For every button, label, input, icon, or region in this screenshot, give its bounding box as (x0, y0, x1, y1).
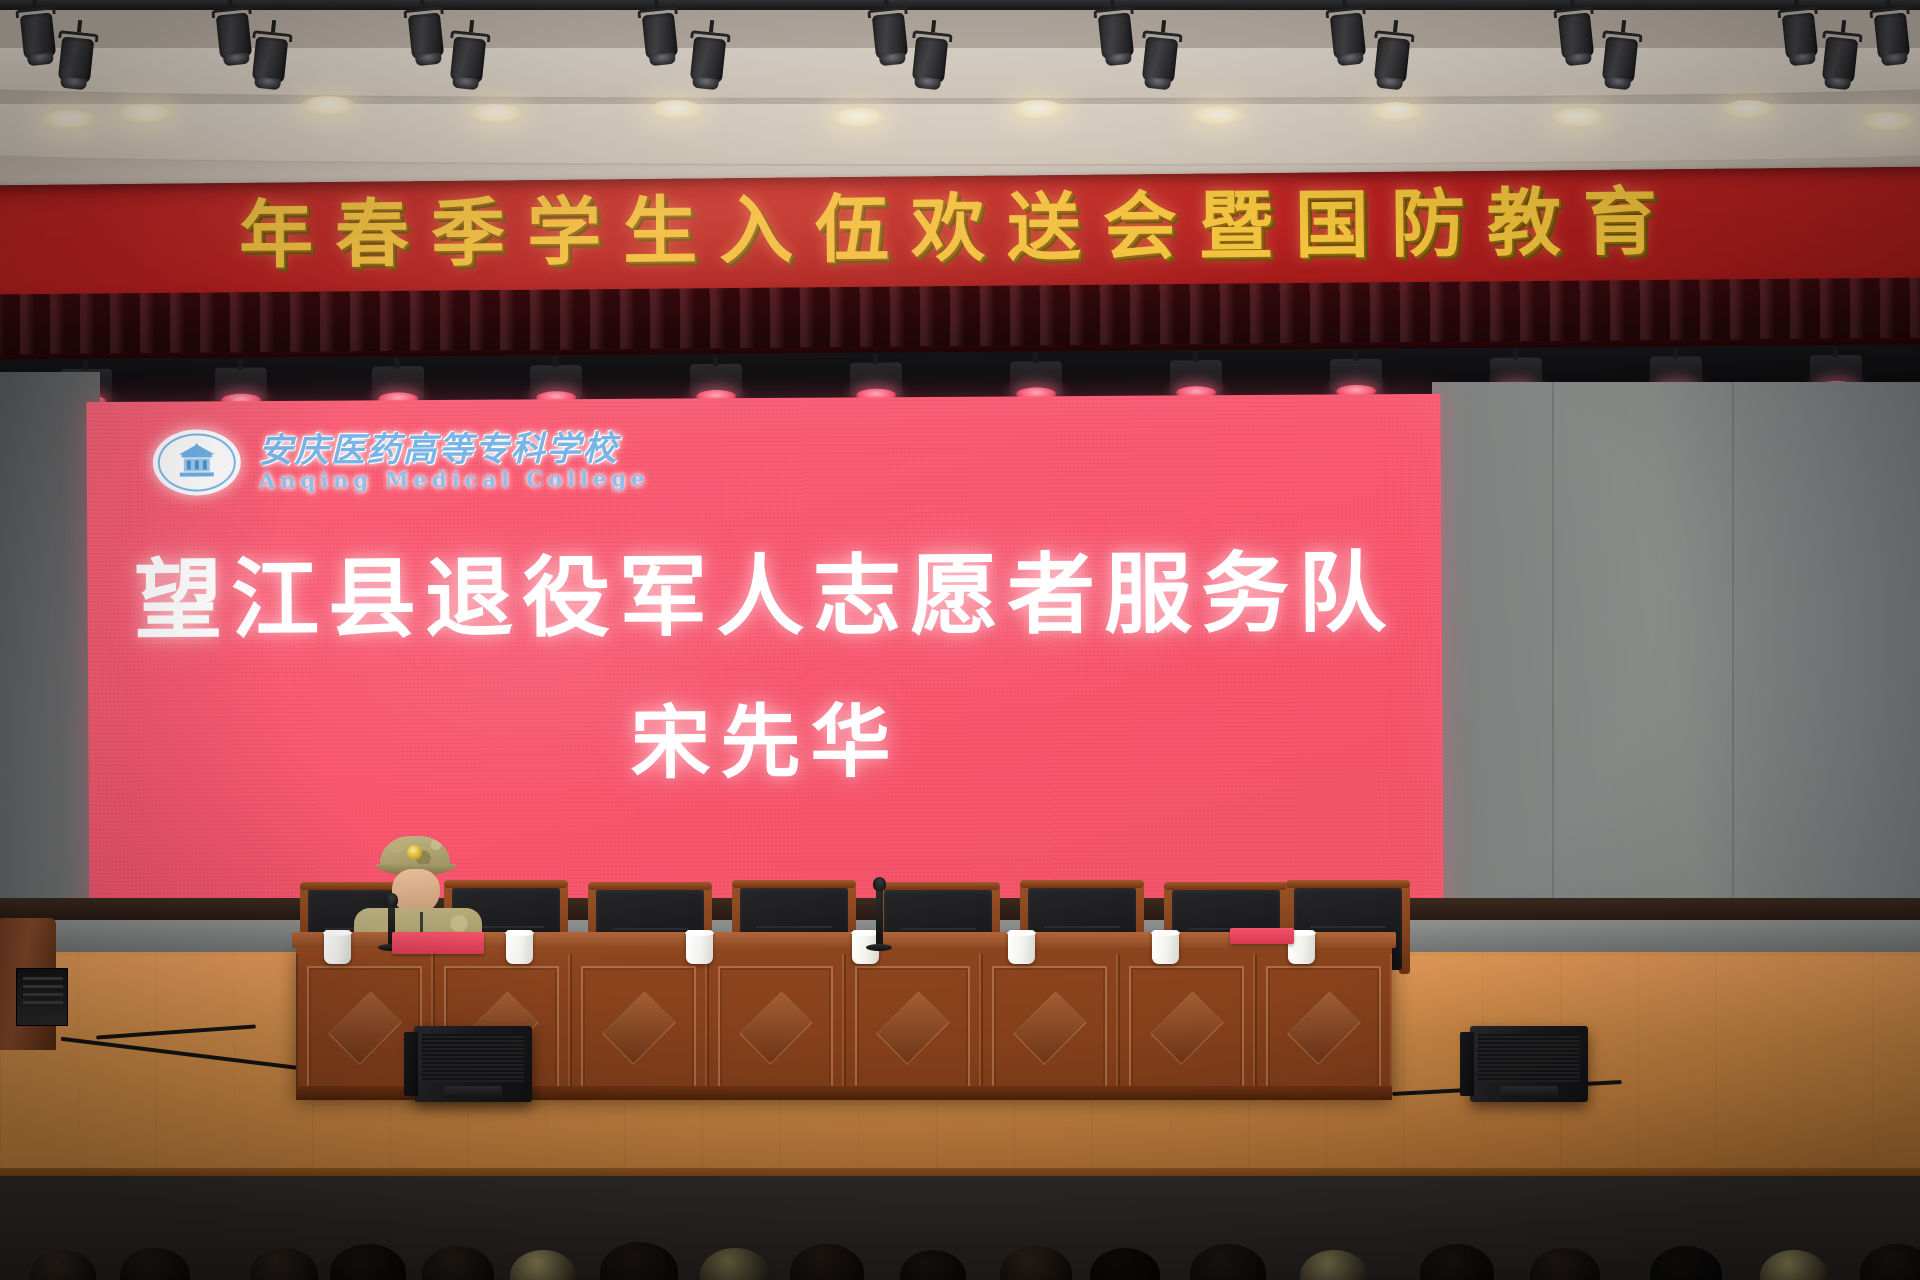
stage-spotlight (867, 2, 913, 70)
ceiling-downlight (1550, 108, 1606, 128)
spotlight-lens (1824, 77, 1851, 91)
floor-monitor-speaker (1470, 1026, 1588, 1102)
spotlight-lens (914, 77, 941, 91)
monitor-grille (1478, 1034, 1580, 1082)
chair-crease (1044, 926, 1120, 928)
audience-head (330, 1244, 406, 1280)
audience-head (1860, 1244, 1920, 1280)
spotlight-lens (27, 53, 54, 67)
table-front-panel (1118, 954, 1255, 1094)
spotlight-lens (223, 53, 250, 67)
ceiling-downlight (830, 108, 886, 128)
side-wall-right (1432, 382, 1920, 942)
audience-head (1190, 1244, 1266, 1280)
spotlight-lens (1105, 53, 1132, 67)
monitor-horn (444, 1086, 502, 1098)
stage-spotlight (1369, 26, 1415, 94)
water-cup (1152, 930, 1179, 964)
led-screen-wrapper: 安庆医药高等专科学校 Anqing Medical College 望江县退役军… (86, 394, 1443, 922)
par-can-light (215, 367, 267, 401)
stage-spotlight (685, 26, 731, 94)
par-can-stem (238, 359, 243, 370)
par-can-stem (1673, 347, 1678, 358)
av-equipment-box (16, 968, 68, 1026)
audience-head (1760, 1250, 1828, 1280)
stage-spotlight (1553, 2, 1599, 70)
spotlight-lens (649, 53, 676, 67)
microphone-base (866, 944, 892, 951)
spotlight-lens (1337, 53, 1364, 67)
panel-inner-frame (855, 966, 970, 1090)
spotlight-stem (271, 20, 276, 32)
audience-head (1300, 1250, 1368, 1280)
college-logo: 安庆医药高等专科学校 Anqing Medical College (153, 427, 650, 496)
spotlight-stem (77, 20, 82, 32)
banner-headline-text: 年春季学生入伍欢送会暨国防教育 (0, 176, 1920, 283)
college-logo-text: 安庆医药高等专科学校 Anqing Medical College (259, 431, 650, 490)
spotlight-stem (469, 20, 474, 32)
spotlight-lens (1789, 53, 1816, 67)
audience-head (422, 1246, 494, 1280)
par-can-light (1010, 361, 1062, 395)
spotlight-stem (709, 20, 714, 32)
spotlight-stem (931, 20, 936, 32)
spotlight-lens (452, 77, 479, 91)
spotlight-stem (1841, 20, 1846, 32)
table-front-panel (844, 954, 981, 1094)
par-can-stem (395, 357, 400, 368)
lighting-truss-rail (0, 0, 1920, 10)
audience-head (1420, 1244, 1494, 1280)
panel-inner-frame (1129, 966, 1244, 1090)
college-name-cn: 安庆医药高等专科学校 (259, 431, 650, 467)
audience-head (120, 1248, 190, 1280)
table-front-panel (1255, 954, 1392, 1094)
panel-diamond-motif (602, 991, 676, 1065)
audience-head (1000, 1246, 1072, 1280)
slide-title: 望江县退役军人志愿者服务队 (87, 522, 1442, 657)
audience-head (30, 1250, 96, 1280)
stage-spotlight (1137, 26, 1183, 94)
ceiling-band (0, 104, 1920, 166)
par-can-light (530, 365, 582, 399)
slide-speaker-name: 宋先华 (88, 674, 1443, 798)
panel-inner-frame (581, 966, 696, 1090)
chair-top-rail (732, 880, 856, 888)
ceiling-downlight (1368, 102, 1424, 122)
wall-seam (1552, 382, 1554, 942)
audience-head (1530, 1248, 1600, 1280)
red-name-card (392, 932, 484, 954)
chair-crease (1310, 926, 1386, 928)
spotlight-lens (879, 53, 906, 67)
ceiling-downlight (300, 96, 356, 116)
monitor-grille (422, 1034, 524, 1082)
ceiling-downlight (1190, 106, 1246, 126)
audience-foreground (0, 1176, 1920, 1280)
floor-monitor-speaker (414, 1026, 532, 1102)
par-can-stem (1513, 349, 1518, 360)
water-cup (1008, 930, 1035, 964)
stage-spotlight (403, 2, 449, 70)
stage-spotlight (637, 2, 683, 70)
panel-diamond-motif (328, 991, 402, 1065)
par-can-stem (873, 354, 878, 365)
college-seal (153, 429, 241, 496)
spotlight-lens (1565, 53, 1592, 67)
par-can-light (1170, 360, 1222, 394)
spotlight-lens (1604, 77, 1631, 91)
chair-top-rail (1286, 880, 1410, 888)
spotlight-lens (692, 77, 719, 91)
stage-spotlight (53, 26, 99, 94)
audience-head (1090, 1248, 1160, 1280)
spotlight-lens (415, 53, 442, 67)
ceiling-downlight (648, 100, 704, 120)
audience-head (250, 1248, 318, 1280)
par-can-stem (1353, 350, 1358, 361)
audience-head (900, 1250, 966, 1280)
par-can-stem (83, 360, 88, 371)
monitor-side-wedge (1460, 1032, 1474, 1096)
stage-spotlight (1325, 2, 1371, 70)
panel-diamond-motif (1287, 991, 1361, 1065)
led-screen: 安庆医药高等专科学校 Anqing Medical College 望江县退役军… (86, 394, 1443, 922)
stage-spotlight (907, 26, 953, 94)
par-can-light (850, 362, 902, 396)
spotlight-lens (1144, 77, 1171, 91)
ceiling-downlight (1860, 112, 1916, 132)
chair-top-rail (876, 882, 1000, 890)
chair-crease (900, 928, 976, 930)
panel-diamond-motif (1013, 991, 1087, 1065)
chair-crease (756, 926, 832, 928)
stage-spotlight (1093, 2, 1139, 70)
ceiling-downlight (468, 104, 524, 124)
table-front-panel (570, 954, 707, 1094)
stage-spotlight (1817, 26, 1863, 94)
table-front-panel (707, 954, 844, 1094)
chair-top-rail (1164, 882, 1288, 890)
panel-inner-frame (1266, 966, 1381, 1090)
panel-inner-frame (718, 966, 833, 1090)
par-can-light (1330, 359, 1382, 393)
stage-spotlight (1777, 2, 1823, 70)
vent-slot (23, 1001, 63, 1004)
spotlight-stem (1393, 20, 1398, 32)
stage-spotlight (445, 26, 491, 94)
par-can-stem (1193, 351, 1198, 362)
stage-spotlight (1597, 26, 1643, 94)
ceiling-downlight (1010, 100, 1066, 120)
par-can-light (372, 366, 424, 400)
spotlight-lens (1881, 53, 1908, 67)
ceiling-downlight (40, 110, 96, 130)
par-can-stem (1033, 352, 1038, 363)
par-can-stem (713, 355, 718, 366)
vent-slot (23, 985, 63, 988)
monitor-side-wedge (404, 1032, 418, 1096)
panel-diamond-motif (1150, 991, 1224, 1065)
chair-top-rail (588, 882, 712, 890)
panel-inner-frame (992, 966, 1107, 1090)
stage-spotlight (15, 2, 61, 70)
audience-head (1650, 1246, 1722, 1280)
vent-slot (23, 993, 63, 996)
stage-spotlight (1869, 2, 1915, 70)
auditorium-scene: 年春季学生入伍欢送会暨国防教育 (0, 0, 1920, 1280)
audience-head (600, 1242, 678, 1280)
side-wall-left (0, 372, 100, 932)
table-front-panel (981, 954, 1118, 1094)
pagoda-gate-icon (175, 443, 219, 481)
spotlight-lens (1376, 77, 1403, 91)
par-can-light (690, 364, 742, 398)
cap-badge-icon (407, 845, 422, 860)
spotlight-stem (1161, 20, 1166, 32)
par-can-stem (553, 356, 558, 367)
audience-head (790, 1244, 864, 1280)
ceiling-downlight (118, 104, 174, 124)
panel-diamond-motif (876, 991, 950, 1065)
spotlight-stem (1621, 20, 1626, 32)
spotlight-lens (254, 77, 281, 91)
par-can-stem (1833, 346, 1838, 357)
table-microphone (876, 886, 883, 948)
chair-top-rail (1020, 880, 1144, 888)
audience-head (700, 1248, 770, 1280)
red-name-card (1230, 928, 1294, 944)
audience-head (510, 1250, 576, 1280)
stage-spotlight (247, 26, 293, 94)
ceiling-downlight (1720, 100, 1776, 120)
vent-slot (23, 977, 63, 980)
water-cup (686, 930, 713, 964)
water-cup (506, 930, 533, 964)
water-cup (324, 930, 351, 964)
wall-seam (1732, 382, 1734, 942)
panel-diamond-motif (739, 991, 813, 1065)
monitor-horn (1500, 1086, 1558, 1098)
college-name-en: Anqing Medical College (259, 467, 650, 490)
chair-crease (612, 928, 688, 930)
spotlight-lens (60, 77, 87, 91)
